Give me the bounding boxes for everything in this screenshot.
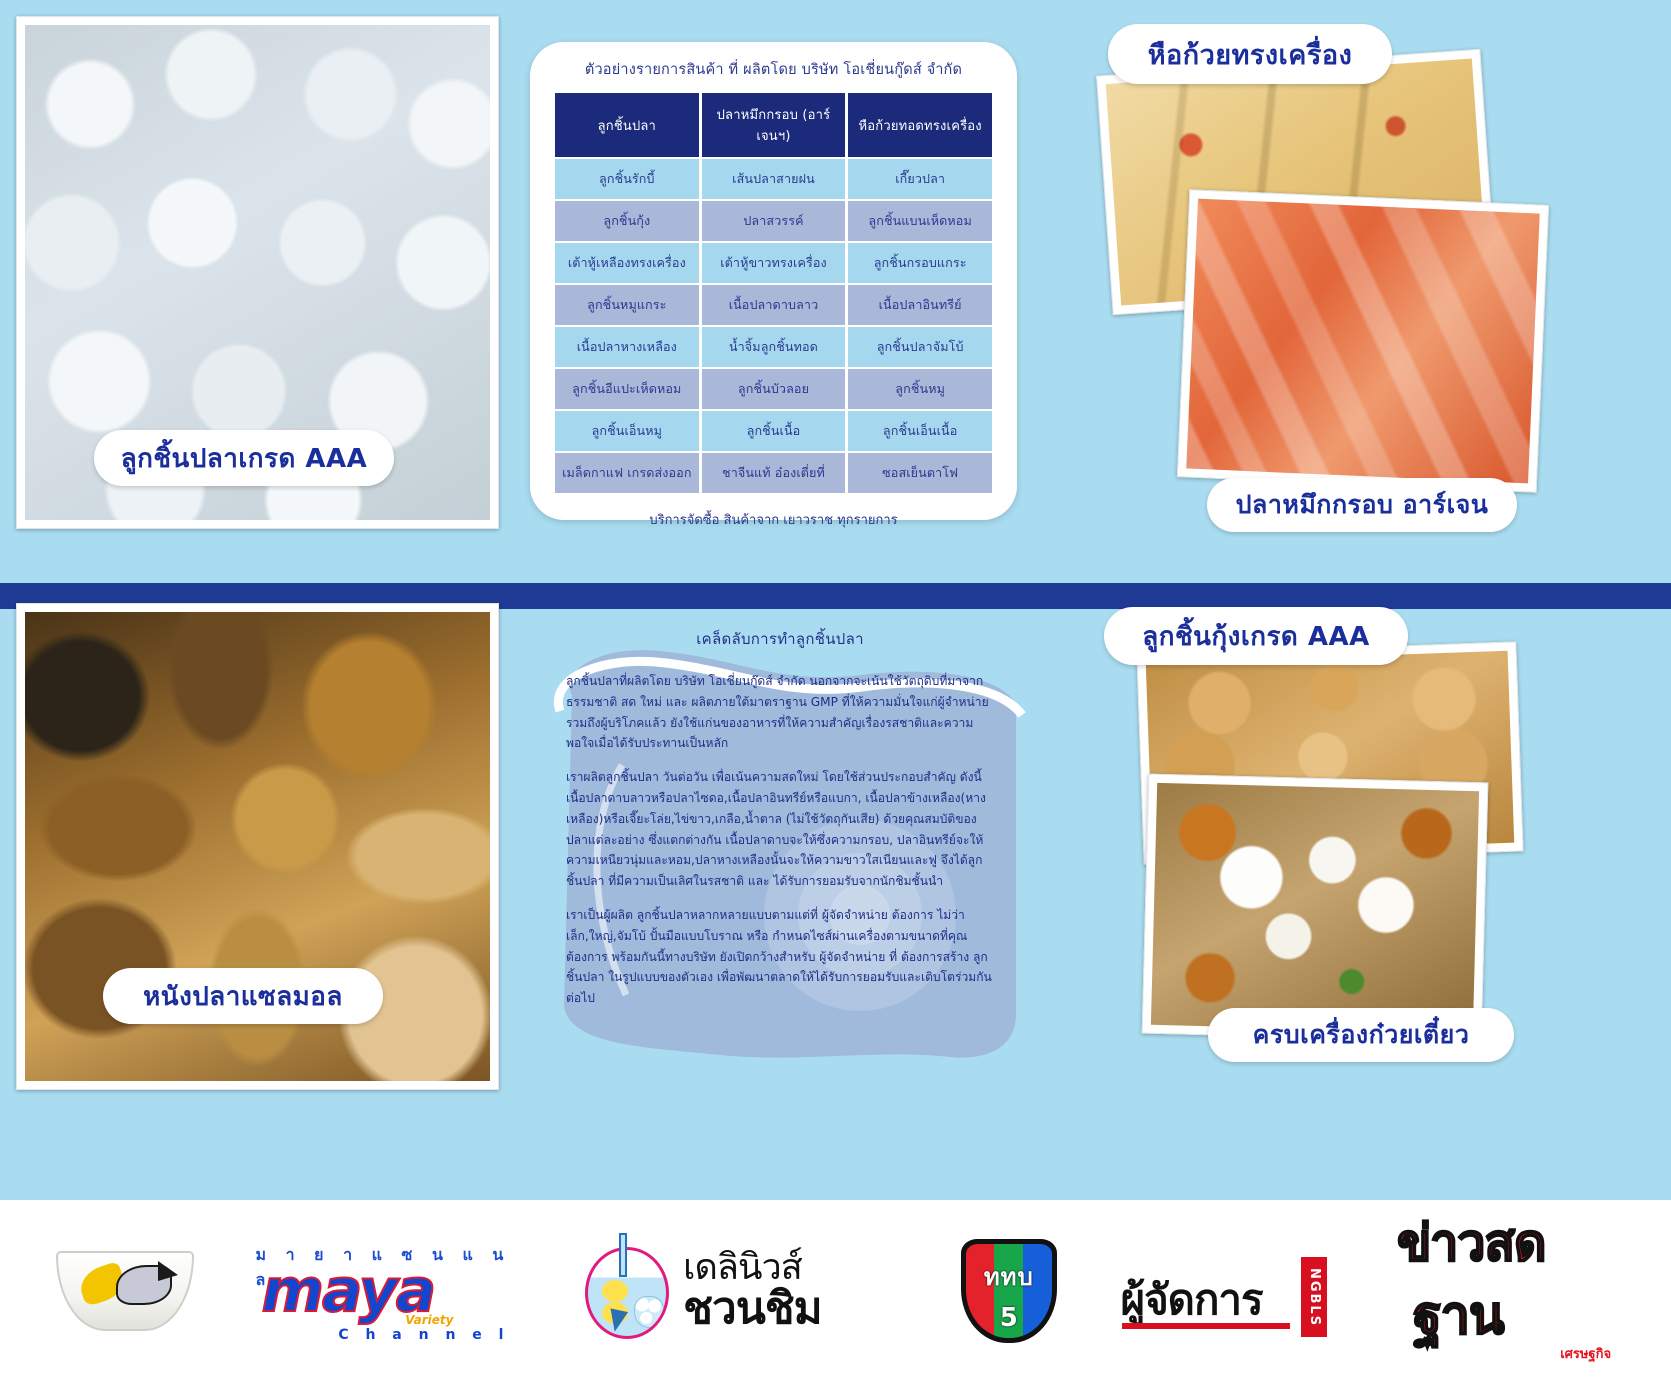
khaosod-than-logo: ข่าวสด ฐาน เศรษฐกิจ bbox=[1391, 1217, 1621, 1365]
table-cell: ลูกชิ้นเนื้อ bbox=[702, 411, 846, 451]
product-table-header-cell: หือก้วยทอดทรงเครื่อง bbox=[848, 93, 992, 157]
caption-hoikuay-text: หือก้วยทรงเครื่อง bbox=[1148, 33, 1353, 76]
table-cell: ลูกชิ้นเอ็นหมู bbox=[555, 411, 699, 451]
fish-fin-icon bbox=[158, 1261, 178, 1281]
caption-noodlesoup: ครบเครื่องก๋วยเตี๋ยว bbox=[1208, 1008, 1514, 1062]
caption-shrimpballs: ลูกชิ้นกุ้งเกรด AAA bbox=[1104, 607, 1408, 665]
straw-icon bbox=[619, 1233, 627, 1277]
photo-squid bbox=[1177, 189, 1549, 492]
product-table-header-row: ลูกชิ้นปลา ปลาหมึกกรอบ (อาร์เจนฯ) หือก้ว… bbox=[555, 93, 992, 157]
manager-tag-text: NGBLS bbox=[1307, 1267, 1322, 1326]
product-table: ลูกชิ้นปลา ปลาหมึกกรอบ (อาร์เจนฯ) หือก้ว… bbox=[552, 91, 995, 495]
than-subtitle: เศรษฐกิจ bbox=[1560, 1343, 1611, 1364]
table-row: ลูกชิ้นรักบี้เส้นปลาสายฝนเกี๊ยวปลา bbox=[555, 159, 992, 199]
table-cell: เกี๊ยวปลา bbox=[848, 159, 992, 199]
table-row: เนื้อปลาหางเหลืองน้ำจิ้มลูกชิ้นทอดลูกชิ้… bbox=[555, 327, 992, 367]
khaosod-wordmark: ข่าวสด bbox=[1397, 1217, 1545, 1270]
caption-squid: ปลาหมึกกรอบ อาร์เจน bbox=[1207, 478, 1517, 532]
table-cell: ลูกชิ้นเอ็นเนื้อ bbox=[848, 411, 992, 451]
table-cell: ลูกชิ้นหมูแกระ bbox=[555, 285, 699, 325]
tv-shield-icon: ททบ 5 bbox=[961, 1239, 1057, 1343]
caption-salmonskin-text: หนังปลาแซลมอล bbox=[143, 976, 343, 1017]
table-cell: ลูกชิ้นกุ้ง bbox=[555, 201, 699, 241]
table-cell: เต้าหู้เหลืองทรงเครื่อง bbox=[555, 243, 699, 283]
table-cell: น้ำจิ้มลูกชิ้นทอด bbox=[702, 327, 846, 367]
table-row: ลูกชิ้นเอ็นหมูลูกชิ้นเนื้อลูกชิ้นเอ็นเนื… bbox=[555, 411, 992, 451]
table-cell: ปลาสวรรค์ bbox=[702, 201, 846, 241]
glass-oval-icon bbox=[585, 1247, 669, 1339]
table-cell: ซอสเย็นตาโฟ bbox=[848, 453, 992, 493]
article-heading: เคล็ดลับการทำลูกชิ้นปลา bbox=[530, 627, 1030, 651]
caption-squid-text: ปลาหมึกกรอบ อาร์เจน bbox=[1236, 485, 1489, 525]
grape-icon bbox=[634, 1296, 664, 1328]
table-row: ลูกชิ้นหมูแกระเนื้อปลาดาบลาวเนื้อปลาอินท… bbox=[555, 285, 992, 325]
manager-tag: NGBLS bbox=[1301, 1257, 1327, 1337]
bolt-icon bbox=[606, 1308, 628, 1333]
maya-wordmark: maya bbox=[261, 1261, 434, 1321]
brochure-page: ลูกชิ้นปลาเกรด AAA ตัวอย่างรายการสินค้า … bbox=[0, 0, 1671, 1382]
caption-hoikuay: หือก้วยทรงเครื่อง bbox=[1108, 24, 1392, 84]
table-row: เมล็ดกาแฟ เกรดส่งออกชาจีนแท้ อ๋องเตี่ยที… bbox=[555, 453, 992, 493]
dailynews-chuanchim-logo: เดลินิวส์ ชวนชิม bbox=[579, 1236, 899, 1346]
dailynews-line1: เดลินิวส์ bbox=[683, 1250, 822, 1286]
caption-fishballs: ลูกชิ้นปลาเกรด AAA bbox=[94, 430, 394, 486]
maya-variety-text: Variety bbox=[405, 1313, 453, 1327]
fish-bowl-logo bbox=[50, 1245, 200, 1337]
table-cell: ลูกชิ้นรักบี้ bbox=[555, 159, 699, 199]
tv-channel-number: 5 bbox=[961, 1303, 1057, 1333]
product-table-footer: บริการจัดซื้อ สินค้าจาก เยาวราช ทุกรายกา… bbox=[552, 509, 995, 530]
table-cell: ลูกชิ้นแบนเห็ดหอม bbox=[848, 201, 992, 241]
photo-squid-image bbox=[1186, 199, 1539, 484]
caption-noodlesoup-text: ครบเครื่องก๋วยเตี๋ยว bbox=[1253, 1015, 1470, 1055]
manager-logo: ผู้จัดการ NGBLS bbox=[1120, 1239, 1335, 1343]
table-cell: เนื้อปลาดาบลาว bbox=[702, 285, 846, 325]
tv5-logo: ททบ 5 bbox=[955, 1235, 1065, 1347]
bowl-icon bbox=[56, 1251, 194, 1331]
table-cell: เส้นปลาสายฝน bbox=[702, 159, 846, 199]
table-cell: ลูกชิ้นหมู bbox=[848, 369, 992, 409]
table-cell: ลูกชิ้นบัวลอย bbox=[702, 369, 846, 409]
maya-channel-logo: ม า ย า แ ซ น แ น ล maya Variety C h a n… bbox=[255, 1241, 523, 1341]
table-cell: ลูกชิ้นกรอบแกระ bbox=[848, 243, 992, 283]
dailynews-text-block: เดลินิวส์ ชวนชิม bbox=[683, 1250, 822, 1332]
product-table-header-cell: ลูกชิ้นปลา bbox=[555, 93, 699, 157]
product-table-header-cell: ปลาหมึกกรอบ (อาร์เจนฯ) bbox=[702, 93, 846, 157]
footer-logo-strip: ม า ย า แ ซ น แ น ล maya Variety C h a n… bbox=[0, 1200, 1671, 1382]
table-row: ลูกชิ้นอีแปะเห็ดหอมลูกชิ้นบัวลอยลูกชิ้นห… bbox=[555, 369, 992, 409]
table-cell: เต้าหู้ขาวทรงเครื่อง bbox=[702, 243, 846, 283]
caption-fishballs-text: ลูกชิ้นปลาเกรด AAA bbox=[121, 438, 368, 479]
than-wordmark: ฐาน bbox=[1413, 1289, 1503, 1344]
table-row: เต้าหู้เหลืองทรงเครื่องเต้าหู้ขาวทรงเครื… bbox=[555, 243, 992, 283]
caption-salmonskin: หนังปลาแซลมอล bbox=[103, 968, 383, 1024]
table-cell: ลูกชิ้นอีแปะเห็ดหอม bbox=[555, 369, 699, 409]
article-paragraph: เราผลิตลูกชิ้นปลา วันต่อวัน เพื่อเน้นควา… bbox=[566, 767, 996, 892]
table-cell: ชาจีนแท้ อ๋องเตี่ยที่ bbox=[702, 453, 846, 493]
photo-noodlesoup-image bbox=[1151, 783, 1479, 1033]
tv-letters: ททบ bbox=[961, 1257, 1057, 1296]
table-cell: ลูกชิ้นปลาจัมโบ้ bbox=[848, 327, 992, 367]
article-body: ลูกชิ้นปลาที่ผลิตโดย บริษัท โอเชี่ยนกู๊ด… bbox=[566, 671, 996, 1022]
article-paragraph: ลูกชิ้นปลาที่ผลิตโดย บริษัท โอเชี่ยนกู๊ด… bbox=[566, 671, 996, 754]
caption-shrimpballs-text: ลูกชิ้นกุ้งเกรด AAA bbox=[1142, 616, 1369, 657]
photo-noodlesoup bbox=[1142, 774, 1489, 1043]
product-table-card: ตัวอย่างรายการสินค้า ที่ ผลิตโดย บริษัท … bbox=[530, 42, 1017, 520]
manager-underline bbox=[1122, 1323, 1290, 1329]
table-cell: เนื้อปลาอินทรีย์ bbox=[848, 285, 992, 325]
table-cell: เนื้อปลาหางเหลือง bbox=[555, 327, 699, 367]
dailynews-line2: ชวนชิม bbox=[683, 1286, 822, 1332]
egg-icon bbox=[602, 1280, 628, 1302]
article-blob: เคล็ดลับการทำลูกชิ้นปลา ลูกชิ้นปลาที่ผลิ… bbox=[530, 615, 1030, 1085]
table-row: ลูกชิ้นกุ้งปลาสวรรค์ลูกชิ้นแบนเห็ดหอม bbox=[555, 201, 992, 241]
drink-glass-icon bbox=[579, 1239, 675, 1343]
product-table-title: ตัวอย่างรายการสินค้า ที่ ผลิตโดย บริษัท … bbox=[552, 58, 995, 81]
table-cell: เมล็ดกาแฟ เกรดส่งออก bbox=[555, 453, 699, 493]
maya-channel-text: C h a n n e l bbox=[338, 1327, 509, 1343]
article-paragraph: เราเป็นผู้ผลิต ลูกชิ้นปลาหลากหลายแบบตามแ… bbox=[566, 905, 996, 1009]
